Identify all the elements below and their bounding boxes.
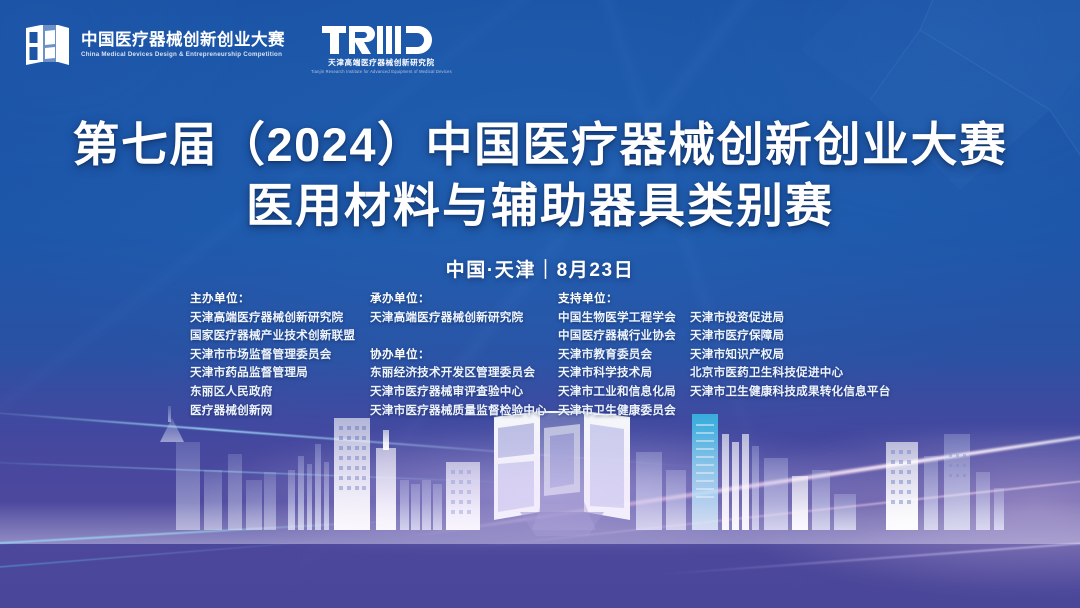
org-item: 医疗器械创新网 bbox=[190, 402, 370, 421]
org-item: 天津市医疗器械质量监督检验中心 bbox=[370, 402, 558, 421]
org-item: 中国医疗器械行业协会 bbox=[558, 327, 690, 346]
org-item: 国家医疗器械产业技术创新联盟 bbox=[190, 327, 370, 346]
organizer-column-supporter-a: 支持单位： 中国生物医学工程学会 中国医疗器械行业协会 天津市教育委员会 天津市… bbox=[558, 290, 690, 420]
open-door-icon bbox=[24, 22, 70, 66]
column-spacer bbox=[690, 290, 891, 309]
org-item: 东丽区人民政府 bbox=[190, 383, 370, 402]
organizer-column-organizer: 承办单位： 天津高端医疗器械创新研究院 协办单位： 东丽经济技术开发区管理委员会… bbox=[370, 290, 558, 420]
org-item: 天津高端医疗器械创新研究院 bbox=[370, 309, 558, 328]
cmdc-name-cn: 中国医疗器械创新创业大赛 bbox=[81, 32, 285, 49]
ground-glow bbox=[180, 422, 920, 542]
org-item: 天津市工业和信息化局 bbox=[558, 383, 690, 402]
org-item: 天津市药品监督管理局 bbox=[190, 364, 370, 383]
event-location-date: 中国·天津｜8月23日 bbox=[0, 255, 1080, 282]
org-item: 天津市卫生健康科技成果转化信息平台 bbox=[690, 383, 891, 402]
header-logos: 中国医疗器械创新创业大赛 China Medical Devices Desig… bbox=[24, 22, 452, 74]
triid-name-en: Tianjin Research Institute for Advanced … bbox=[311, 70, 452, 74]
org-item: 天津高端医疗器械创新研究院 bbox=[190, 309, 370, 328]
event-poster: 中国医疗器械创新创业大赛 China Medical Devices Desig… bbox=[0, 0, 1080, 608]
org-item: 天津市知识产权局 bbox=[690, 346, 891, 365]
column-spacer bbox=[370, 327, 558, 346]
triid-name-cn: 天津高端医疗器械创新研究院 bbox=[328, 59, 435, 67]
org-item: 北京市医药卫生科技促进中心 bbox=[690, 364, 891, 383]
org-heading: 主办单位： bbox=[190, 290, 370, 309]
organizer-column-supporter-b: 天津市投资促进局 天津市医疗保障局 天津市知识产权局 北京市医药卫生科技促进中心… bbox=[690, 290, 891, 402]
title-line-2: 医用材料与辅助器具类别赛 bbox=[0, 179, 1080, 234]
org-item: 天津市医疗器械审评查验中心 bbox=[370, 383, 558, 402]
cmdc-text-block: 中国医疗器械创新创业大赛 China Medical Devices Desig… bbox=[81, 30, 285, 58]
poster-title: 第七届（2024）中国医疗器械创新创业大赛 医用材料与辅助器具类别赛 bbox=[0, 118, 1080, 234]
title-line-1: 第七届（2024）中国医疗器械创新创业大赛 bbox=[0, 118, 1080, 173]
org-item: 天津市市场监督管理委员会 bbox=[190, 346, 370, 365]
open-door-svg bbox=[24, 22, 70, 66]
triid-svg bbox=[322, 24, 440, 56]
logo-triid[interactable]: 天津高端医疗器械创新研究院 Tianjin Research Institute… bbox=[311, 22, 452, 74]
org-item: 天津市医疗保障局 bbox=[690, 327, 891, 346]
org-item: 天津市科学技术局 bbox=[558, 364, 690, 383]
org-heading: 承办单位： bbox=[370, 290, 558, 309]
org-heading: 支持单位： bbox=[558, 290, 690, 309]
org-heading: 协办单位： bbox=[370, 346, 558, 365]
org-item: 中国生物医学工程学会 bbox=[558, 309, 690, 328]
organizer-column-host: 主办单位： 天津高端医疗器械创新研究院 国家医疗器械产业技术创新联盟 天津市市场… bbox=[190, 290, 370, 420]
logo-cmdc[interactable]: 中国医疗器械创新创业大赛 China Medical Devices Desig… bbox=[24, 22, 285, 66]
org-item: 天津市卫生健康委员会 bbox=[558, 402, 690, 421]
triid-wordmark-icon bbox=[322, 24, 440, 56]
org-item: 天津市教育委员会 bbox=[558, 346, 690, 365]
cmdc-name-en: China Medical Devices Design & Entrepren… bbox=[81, 52, 285, 58]
org-item: 东丽经济技术开发区管理委员会 bbox=[370, 364, 558, 383]
organizer-columns: 主办单位： 天津高端医疗器械创新研究院 国家医疗器械产业技术创新联盟 天津市市场… bbox=[190, 290, 920, 420]
org-item: 天津市投资促进局 bbox=[690, 309, 891, 328]
